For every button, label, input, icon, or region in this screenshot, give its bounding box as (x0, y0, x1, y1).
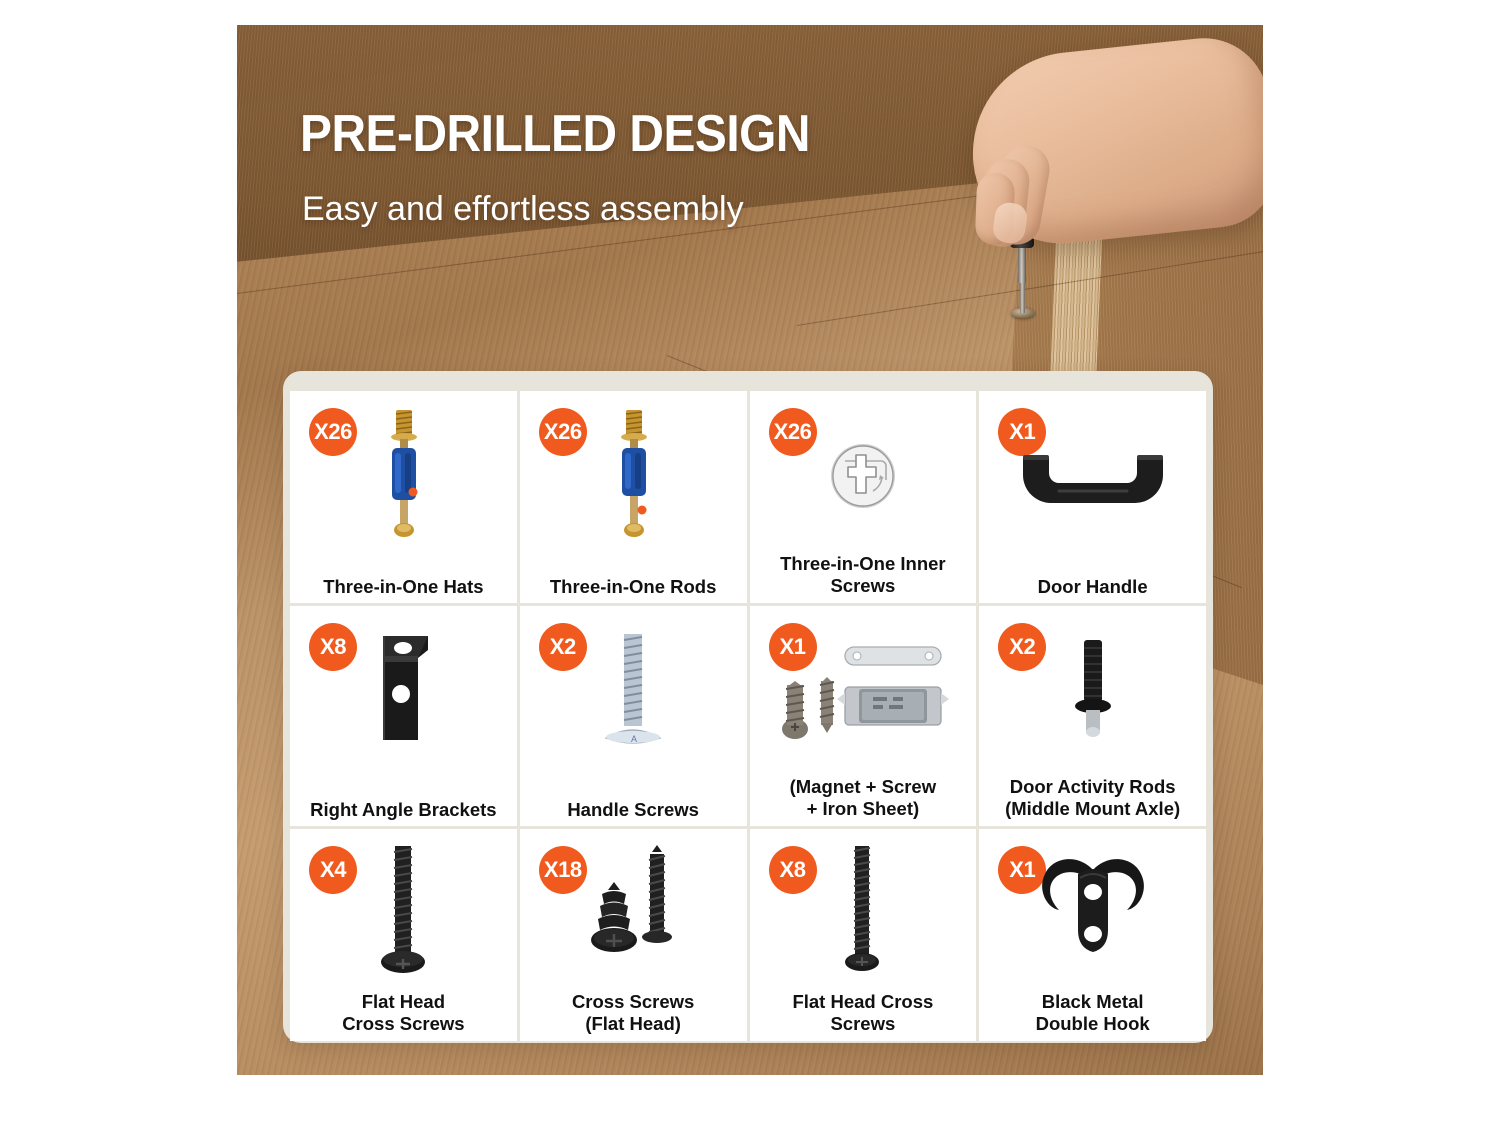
magnet-catch-icon (750, 616, 977, 766)
part-label: Three-in-One Rods (520, 576, 747, 597)
part-label: Three-in-One Inner Screws (750, 553, 977, 597)
part-label-line2: Screws (830, 1013, 895, 1034)
part-label: Cross Screws (Flat Head) (520, 991, 747, 1035)
flat-head-cross-screw-icon (290, 839, 517, 989)
page-title: PRE-DRILLED DESIGN (300, 108, 810, 160)
part-cell-flat-head-cross-screws-long[interactable]: X8 (750, 829, 977, 1041)
part-cell-right-angle-brackets[interactable]: X8 Right Angle Brackets (290, 606, 517, 826)
cam-lock-disc-icon (750, 401, 977, 551)
part-label-line1: (Magnet + Screw (790, 776, 937, 797)
part-label-line2: (Middle Mount Axle) (1005, 798, 1180, 819)
part-label: Flat Head Cross Screws (750, 991, 977, 1035)
svg-text:A: A (631, 734, 637, 744)
handle-screw-icon: A (520, 616, 747, 766)
part-label: Handle Screws (520, 799, 747, 820)
part-label: Black Metal Double Hook (979, 991, 1206, 1035)
part-cell-black-metal-double-hook[interactable]: X1 Black Metal Double Hook (979, 829, 1206, 1041)
part-cell-three-in-one-inner-screws[interactable]: X26 Three-in-One Inner Screws (750, 391, 977, 603)
screwdriver-icon (1018, 243, 1026, 283)
part-label-line2: (Flat Head) (585, 1013, 681, 1034)
cam-bolt-rod-icon (520, 401, 747, 551)
cross-screws-pair-icon (520, 839, 747, 989)
right-angle-bracket-icon (290, 616, 517, 766)
part-label-line2: Cross Screws (342, 1013, 464, 1034)
part-label-line2: + Iron Sheet) (807, 798, 920, 819)
part-label-line1: Flat Head Cross (792, 991, 933, 1012)
part-cell-three-in-one-rods[interactable]: X26 (520, 391, 747, 603)
part-cell-magnet-screw-iron-sheet[interactable]: X1 (750, 606, 977, 826)
cam-bolt-hat-icon (290, 401, 517, 551)
part-label-line1: Cross Screws (572, 991, 694, 1012)
part-label: Right Angle Brackets (290, 799, 517, 820)
door-activity-rod-icon (979, 616, 1206, 766)
parts-list-panel: X26 (283, 371, 1213, 1043)
part-cell-cross-screws-flat-head[interactable]: X18 (520, 829, 747, 1041)
page-subtitle: Easy and effortless assembly (302, 190, 744, 229)
part-label-line1: Black Metal (1042, 991, 1144, 1012)
part-label: Three-in-One Hats (290, 576, 517, 597)
part-label: Flat Head Cross Screws (290, 991, 517, 1035)
part-label: Door Activity Rods (Middle Mount Axle) (979, 776, 1206, 820)
part-label: (Magnet + Screw + Iron Sheet) (750, 776, 977, 820)
double-hook-icon (979, 839, 1206, 989)
part-cell-three-in-one-hats[interactable]: X26 (290, 391, 517, 603)
flat-head-cross-screw-long-icon (750, 839, 977, 989)
part-cell-flat-head-cross-screws[interactable]: X4 (290, 829, 517, 1041)
part-label-line2: Screws (830, 575, 895, 596)
part-label-line1: Door Activity Rods (1010, 776, 1176, 797)
part-cell-door-handle[interactable]: X1 Door Handle (979, 391, 1206, 603)
door-handle-icon (979, 401, 1206, 551)
screenshot-root: PRE-DRILLED DESIGN Easy and effortless a… (0, 0, 1500, 1125)
part-label: Door Handle (979, 576, 1206, 597)
parts-grid: X26 (290, 391, 1206, 991)
part-label-line2: Double Hook (1036, 1013, 1150, 1034)
part-cell-door-activity-rods[interactable]: X2 (979, 606, 1206, 826)
part-label-line1: Flat Head (362, 991, 445, 1012)
part-label-line1: Three-in-One Inner (780, 553, 946, 574)
part-cell-handle-screws[interactable]: X2 A (520, 606, 747, 826)
